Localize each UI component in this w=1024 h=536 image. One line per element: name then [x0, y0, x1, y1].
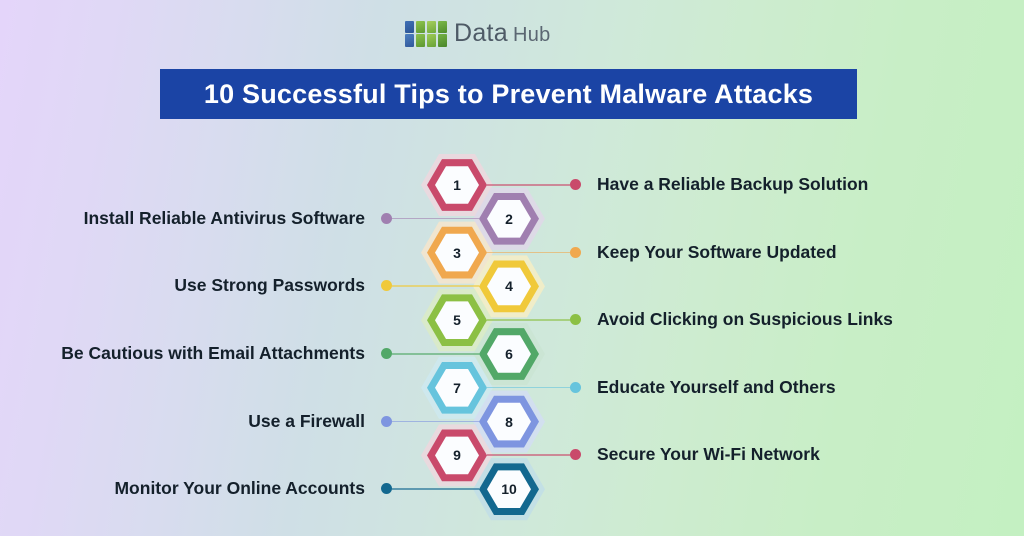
connector-dot-5 — [570, 314, 581, 325]
tip-hexagon-10[interactable]: 10 — [473, 453, 545, 525]
tip-number: 5 — [453, 313, 461, 327]
tip-label-7[interactable]: Educate Yourself and Others — [597, 379, 836, 397]
connector-dot-3 — [570, 247, 581, 258]
tip-label-10[interactable]: Monitor Your Online Accounts — [114, 480, 365, 498]
tip-number: 7 — [453, 381, 461, 395]
tip-label-8[interactable]: Use a Firewall — [248, 413, 365, 431]
tip-number: 4 — [505, 279, 513, 293]
tip-number: 2 — [505, 212, 513, 226]
connector-line-10 — [392, 488, 479, 490]
connector-dot-10 — [381, 483, 392, 494]
connector-dot-4 — [381, 280, 392, 291]
tip-number: 8 — [505, 415, 513, 429]
tip-label-9[interactable]: Secure Your Wi-Fi Network — [597, 446, 820, 464]
tip-label-1[interactable]: Have a Reliable Backup Solution — [597, 176, 868, 194]
tip-label-5[interactable]: Avoid Clicking on Suspicious Links — [597, 311, 893, 329]
connector-dot-6 — [381, 348, 392, 359]
infographic-canvas: DataHub 10 Successful Tips to Prevent Ma… — [0, 0, 1024, 536]
connector-dot-1 — [570, 179, 581, 190]
connector-dot-7 — [570, 382, 581, 393]
connector-dot-2 — [381, 213, 392, 224]
connector-dot-9 — [570, 449, 581, 460]
tips-chain: 12345678910 — [0, 0, 1024, 536]
tip-number: 10 — [501, 482, 517, 496]
tip-label-6[interactable]: Be Cautious with Email Attachments — [61, 345, 365, 363]
tip-number: 6 — [505, 347, 513, 361]
tip-number: 1 — [453, 178, 461, 192]
tip-label-4[interactable]: Use Strong Passwords — [174, 277, 365, 295]
tip-label-3[interactable]: Keep Your Software Updated — [597, 244, 837, 262]
tip-number: 3 — [453, 246, 461, 260]
connector-dot-8 — [381, 416, 392, 427]
tip-label-2[interactable]: Install Reliable Antivirus Software — [84, 210, 365, 228]
tip-number: 9 — [453, 448, 461, 462]
